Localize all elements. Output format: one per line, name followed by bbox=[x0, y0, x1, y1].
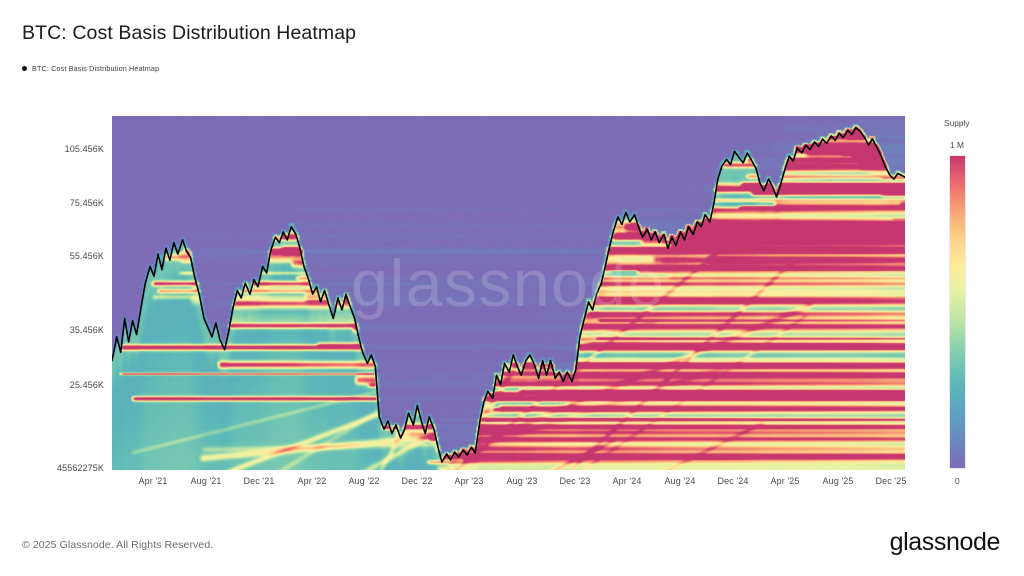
y-axis-tick-label: 45562275K bbox=[4, 463, 104, 473]
heatmap-plot-area[interactable]: glassnode bbox=[112, 116, 905, 470]
x-axis-tick-label: Aug '21 bbox=[191, 476, 222, 486]
colorbar-max-label: 1 M bbox=[950, 140, 964, 150]
x-axis-tick-label: Apr '23 bbox=[455, 476, 484, 486]
x-axis-tick-label: Dec '25 bbox=[876, 476, 907, 486]
x-axis-tick-label: Apr '24 bbox=[613, 476, 642, 486]
colorbar-title: Supply bbox=[944, 118, 970, 128]
footer-copyright: © 2025 Glassnode. All Rights Reserved. bbox=[22, 539, 213, 551]
x-axis-tick-label: Aug '24 bbox=[665, 476, 696, 486]
x-axis-tick-label: Dec '21 bbox=[244, 476, 275, 486]
x-axis-tick-label: Apr '25 bbox=[771, 476, 800, 486]
x-axis-tick-label: Dec '22 bbox=[402, 476, 433, 486]
y-axis-tick-label: 55.456K bbox=[4, 251, 104, 261]
y-axis-tick-label: 35.456K bbox=[4, 325, 104, 335]
brand-logo: glassnode bbox=[890, 528, 1000, 557]
x-axis-tick-label: Dec '24 bbox=[718, 476, 749, 486]
y-axis: 105.456K75.456K55.456K35.456K25.456K4556… bbox=[0, 0, 104, 576]
colorbar-legend[interactable]: Supply 1 M 0 bbox=[930, 116, 1010, 496]
x-axis-tick-label: Apr '22 bbox=[298, 476, 327, 486]
y-axis-tick-label: 105.456K bbox=[4, 144, 104, 154]
colorbar-gradient bbox=[949, 155, 966, 469]
x-axis-tick-label: Aug '25 bbox=[823, 476, 854, 486]
heatmap-canvas bbox=[112, 116, 905, 470]
x-axis-tick-label: Aug '23 bbox=[507, 476, 538, 486]
y-axis-tick-label: 75.456K bbox=[4, 198, 104, 208]
x-axis: Apr '21Aug '21Dec '21Apr '22Aug '22Dec '… bbox=[112, 476, 905, 492]
colorbar-min-label: 0 bbox=[955, 476, 960, 486]
x-axis-tick-label: Apr '21 bbox=[139, 476, 168, 486]
x-axis-tick-label: Dec '23 bbox=[560, 476, 591, 486]
y-axis-tick-label: 25.456K bbox=[4, 380, 104, 390]
x-axis-tick-label: Aug '22 bbox=[349, 476, 380, 486]
